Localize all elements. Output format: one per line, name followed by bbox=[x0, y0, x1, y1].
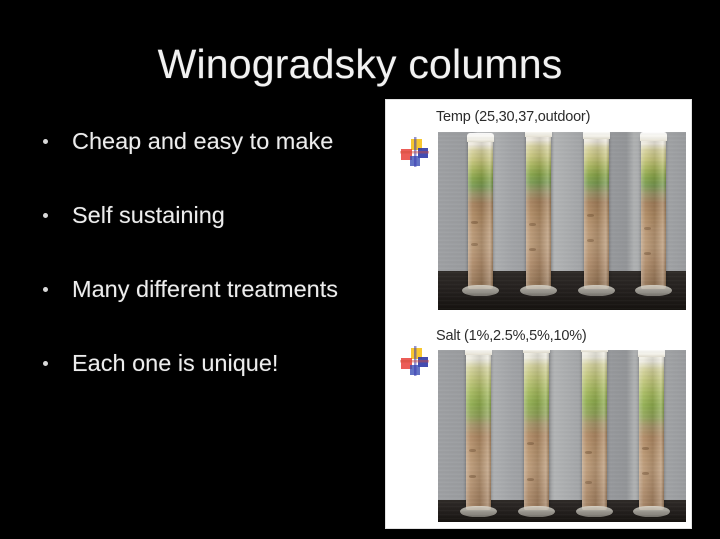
column-tube bbox=[468, 137, 493, 288]
bullet-text: Each one is unique! bbox=[72, 348, 366, 379]
column-tube bbox=[641, 136, 666, 289]
media-placeholder-icon bbox=[398, 136, 432, 170]
photo-temp-columns bbox=[438, 132, 686, 310]
photo-caption-temp: Temp (25,30,37,outdoor) bbox=[436, 108, 590, 126]
photo-caption-salt: Salt (1%,2.5%,5%,10%) bbox=[436, 327, 587, 345]
photo-block-temp: Temp (25,30,37,outdoor) bbox=[386, 100, 691, 316]
page-title: Winogradsky columns bbox=[0, 40, 720, 88]
column-tube bbox=[524, 350, 549, 510]
list-item: Cheap and easy to make bbox=[36, 126, 366, 157]
bullet-dot-icon bbox=[43, 139, 48, 144]
column-tube bbox=[582, 350, 607, 510]
column-tube bbox=[584, 134, 609, 289]
column-tube bbox=[639, 352, 664, 510]
bullet-text: Many different treatments bbox=[72, 274, 366, 305]
bullet-dot-icon bbox=[43, 213, 48, 218]
presentation-slide: Winogradsky columns Cheap and easy to ma… bbox=[0, 0, 720, 539]
media-placeholder-icon bbox=[398, 345, 432, 379]
bullet-text: Cheap and easy to make bbox=[72, 126, 366, 157]
photo-salt-columns bbox=[438, 350, 686, 522]
bullet-dot-icon bbox=[43, 361, 48, 366]
bullet-text: Self sustaining bbox=[72, 200, 366, 231]
list-item: Self sustaining bbox=[36, 200, 366, 231]
bullet-list: Cheap and easy to make Self sustaining M… bbox=[36, 126, 366, 379]
list-item: Many different treatments bbox=[36, 274, 366, 305]
picture-panel: Temp (25,30,37,outdoor) bbox=[386, 100, 691, 528]
column-tube bbox=[466, 350, 491, 510]
column-tube bbox=[526, 132, 551, 289]
bullet-dot-icon bbox=[43, 287, 48, 292]
photo-block-salt: Salt (1%,2.5%,5%,10%) bbox=[386, 319, 691, 528]
list-item: Each one is unique! bbox=[36, 348, 366, 379]
